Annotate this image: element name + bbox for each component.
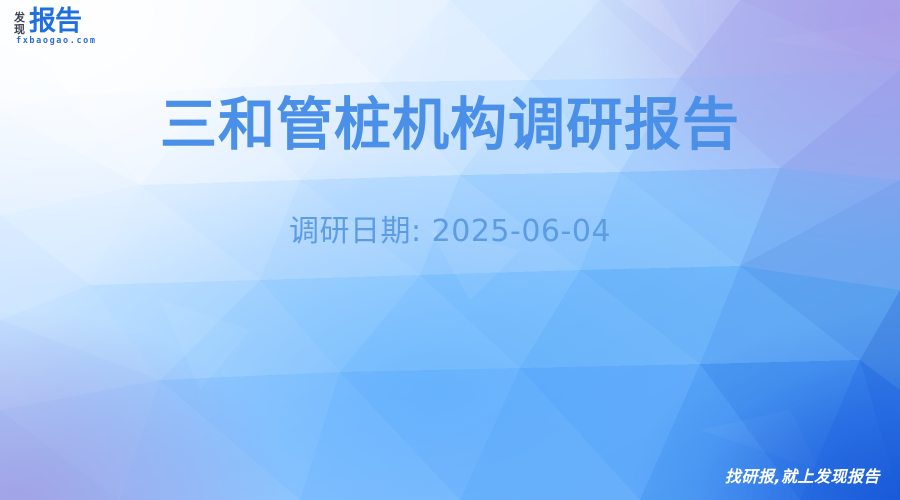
brand-logo-char-bottom: 现 [14, 24, 25, 36]
brand-logo-mark: 发 现 报告 [14, 8, 81, 36]
brand-logo-stacked-chars: 发 现 [14, 8, 25, 36]
brand-logo-wordmark: 报告 [29, 8, 81, 36]
low-poly-background [0, 0, 900, 500]
report-cover-page: 发 现 报告 fxbaogao.com 三和管桩机构调研报告 调研日期: 202… [0, 0, 900, 500]
brand-logo-url: fxbaogao.com [16, 36, 97, 46]
footer-watermark: 找研报,就上发现报告 [725, 467, 880, 487]
brand-logo[interactable]: 发 现 报告 [14, 8, 81, 36]
